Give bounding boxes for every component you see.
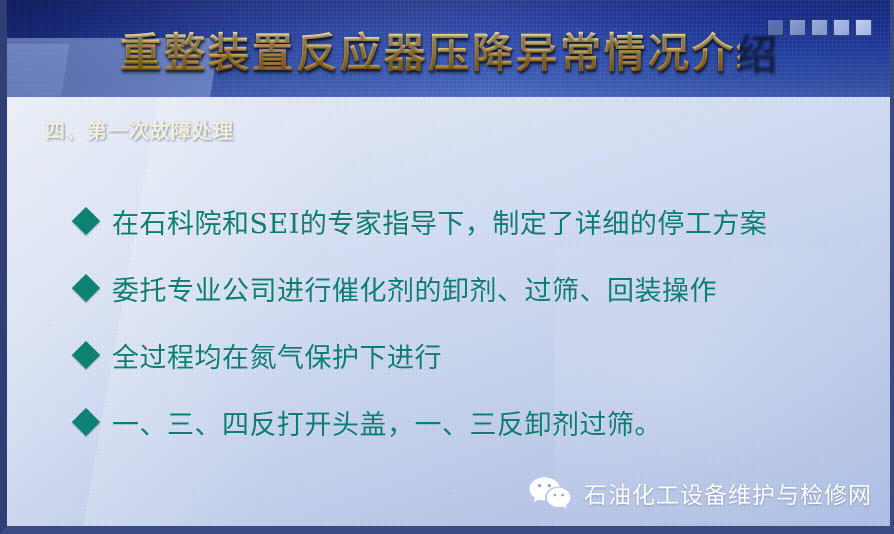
diamond-bullet-icon xyxy=(72,408,100,436)
list-item-label: 委托专业公司进行催化剂的卸剂、过筛、回装操作 xyxy=(112,269,717,308)
section-heading: 四、第一次故障处理 xyxy=(45,115,234,144)
diamond-bullet-icon xyxy=(72,274,100,302)
list-item-label: 在石科院和SEI的专家指导下，制定了详细的停工方案 xyxy=(112,202,767,241)
bullet-list: 在石科院和SEI的专家指导下，制定了详细的停工方案 委托专业公司进行催化剂的卸剂… xyxy=(76,202,876,470)
decor-square-3 xyxy=(811,19,828,36)
watermark: 石油化工设备维护与检修网 xyxy=(528,476,872,510)
decor-square-5 xyxy=(855,19,872,36)
slide-header: 重整装置反应器压降异常情况介绍 xyxy=(0,0,894,97)
page-title: 重整装置反应器压降异常情况介绍 xyxy=(120,24,740,86)
decor-square-2 xyxy=(789,19,806,36)
list-item-label: 一、三、四反打开头盖，一、三反卸剂过筛。 xyxy=(112,403,662,442)
diamond-bullet-icon xyxy=(72,207,100,235)
list-item: 在石科院和SEI的专家指导下，制定了详细的停工方案 xyxy=(76,202,876,240)
diamond-bullet-icon xyxy=(72,341,100,369)
header-decor-squares xyxy=(767,19,872,36)
list-item: 委托专业公司进行催化剂的卸剂、过筛、回装操作 xyxy=(76,269,876,307)
wechat-icon xyxy=(528,476,572,510)
list-item: 全过程均在氮气保护下进行 xyxy=(76,336,876,374)
list-item: 一、三、四反打开头盖，一、三反卸剂过筛。 xyxy=(76,403,876,441)
list-item-label: 全过程均在氮气保护下进行 xyxy=(112,336,442,375)
watermark-label: 石油化工设备维护与检修网 xyxy=(584,476,872,510)
decor-square-4 xyxy=(833,19,850,36)
presentation-slide: 重整装置反应器压降异常情况介绍 四、第一次故障处理 在石科院和SEI的专家指导下… xyxy=(0,0,894,534)
decor-square-1 xyxy=(767,19,784,36)
slide-body: 四、第一次故障处理 在石科院和SEI的专家指导下，制定了详细的停工方案 委托专业… xyxy=(0,97,894,534)
